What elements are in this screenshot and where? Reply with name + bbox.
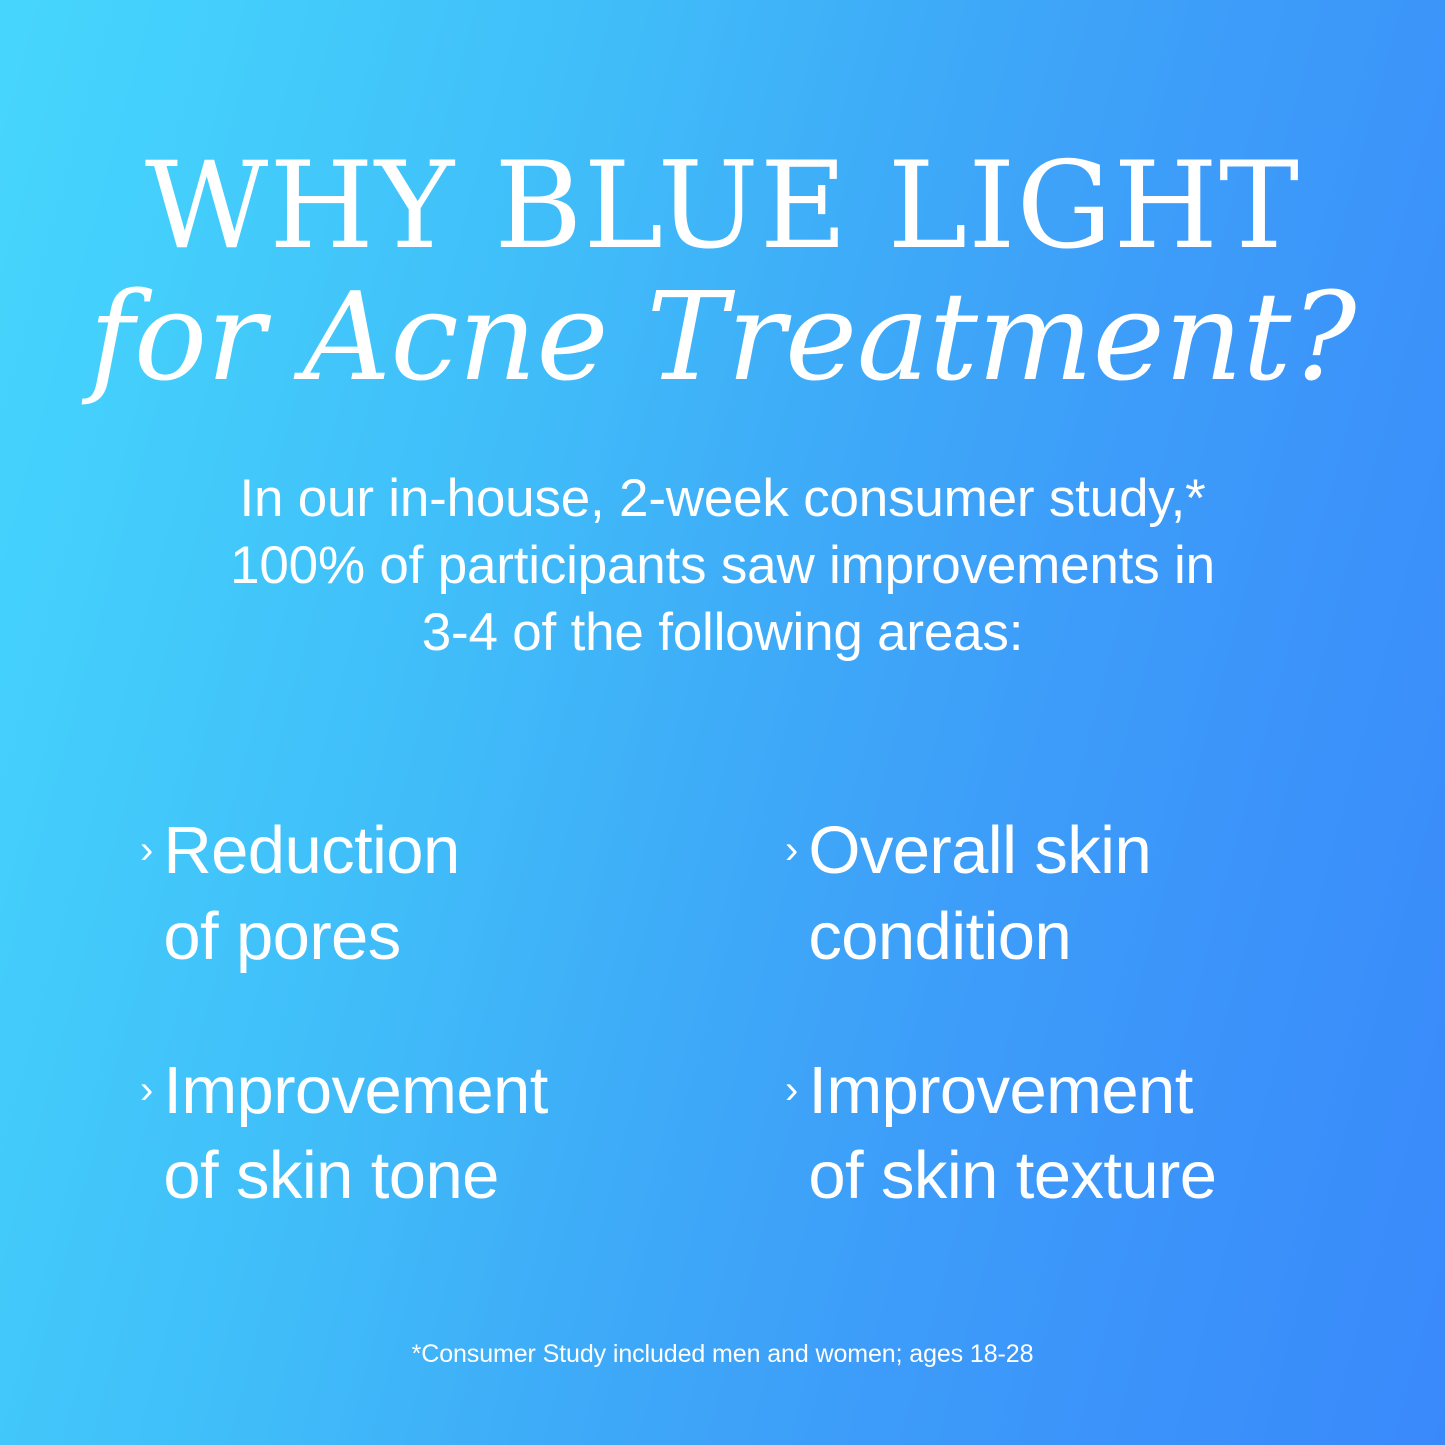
chevron-right-icon: › <box>785 808 798 870</box>
page-title-line-1: WHY BLUE LIGHT <box>0 143 1445 270</box>
intro-paragraph: In our in-house, 2-week consumer study,*… <box>168 466 1278 666</box>
intro-line-1: In our in-house, 2-week consumer study,* <box>168 466 1278 533</box>
page-title-line-2: for Acne Treatment? <box>0 272 1445 404</box>
chevron-right-icon: › <box>140 1048 153 1110</box>
promo-graphic: WHY BLUE LIGHT for Acne Treatment? In ou… <box>0 0 1445 1445</box>
intro-line-2: 100% of participants saw improvements in <box>168 533 1278 600</box>
page-title: WHY BLUE LIGHT for Acne Treatment? <box>0 143 1445 404</box>
benefit-item-improvement-of-skin-texture: › Improvement of skin texture <box>785 1048 1340 1220</box>
benefit-label: Improvement of skin tone <box>163 1048 785 1220</box>
benefit-item-reduction-of-pores: › Reduction of pores <box>140 808 785 980</box>
benefit-label: Improvement of skin texture <box>808 1048 1340 1220</box>
intro-line-3: 3-4 of the following areas: <box>168 600 1278 667</box>
chevron-right-icon: › <box>140 808 153 870</box>
benefit-label: Reduction of pores <box>163 808 785 980</box>
footnote-text: *Consumer Study included men and women; … <box>0 1340 1445 1369</box>
chevron-right-icon: › <box>785 1048 798 1110</box>
benefit-label: Overall skin condition <box>808 808 1340 980</box>
benefits-list: › Reduction of pores › Overall skin cond… <box>140 808 1340 1219</box>
benefit-item-overall-skin-condition: › Overall skin condition <box>785 808 1340 980</box>
benefit-item-improvement-of-skin-tone: › Improvement of skin tone <box>140 1048 785 1220</box>
